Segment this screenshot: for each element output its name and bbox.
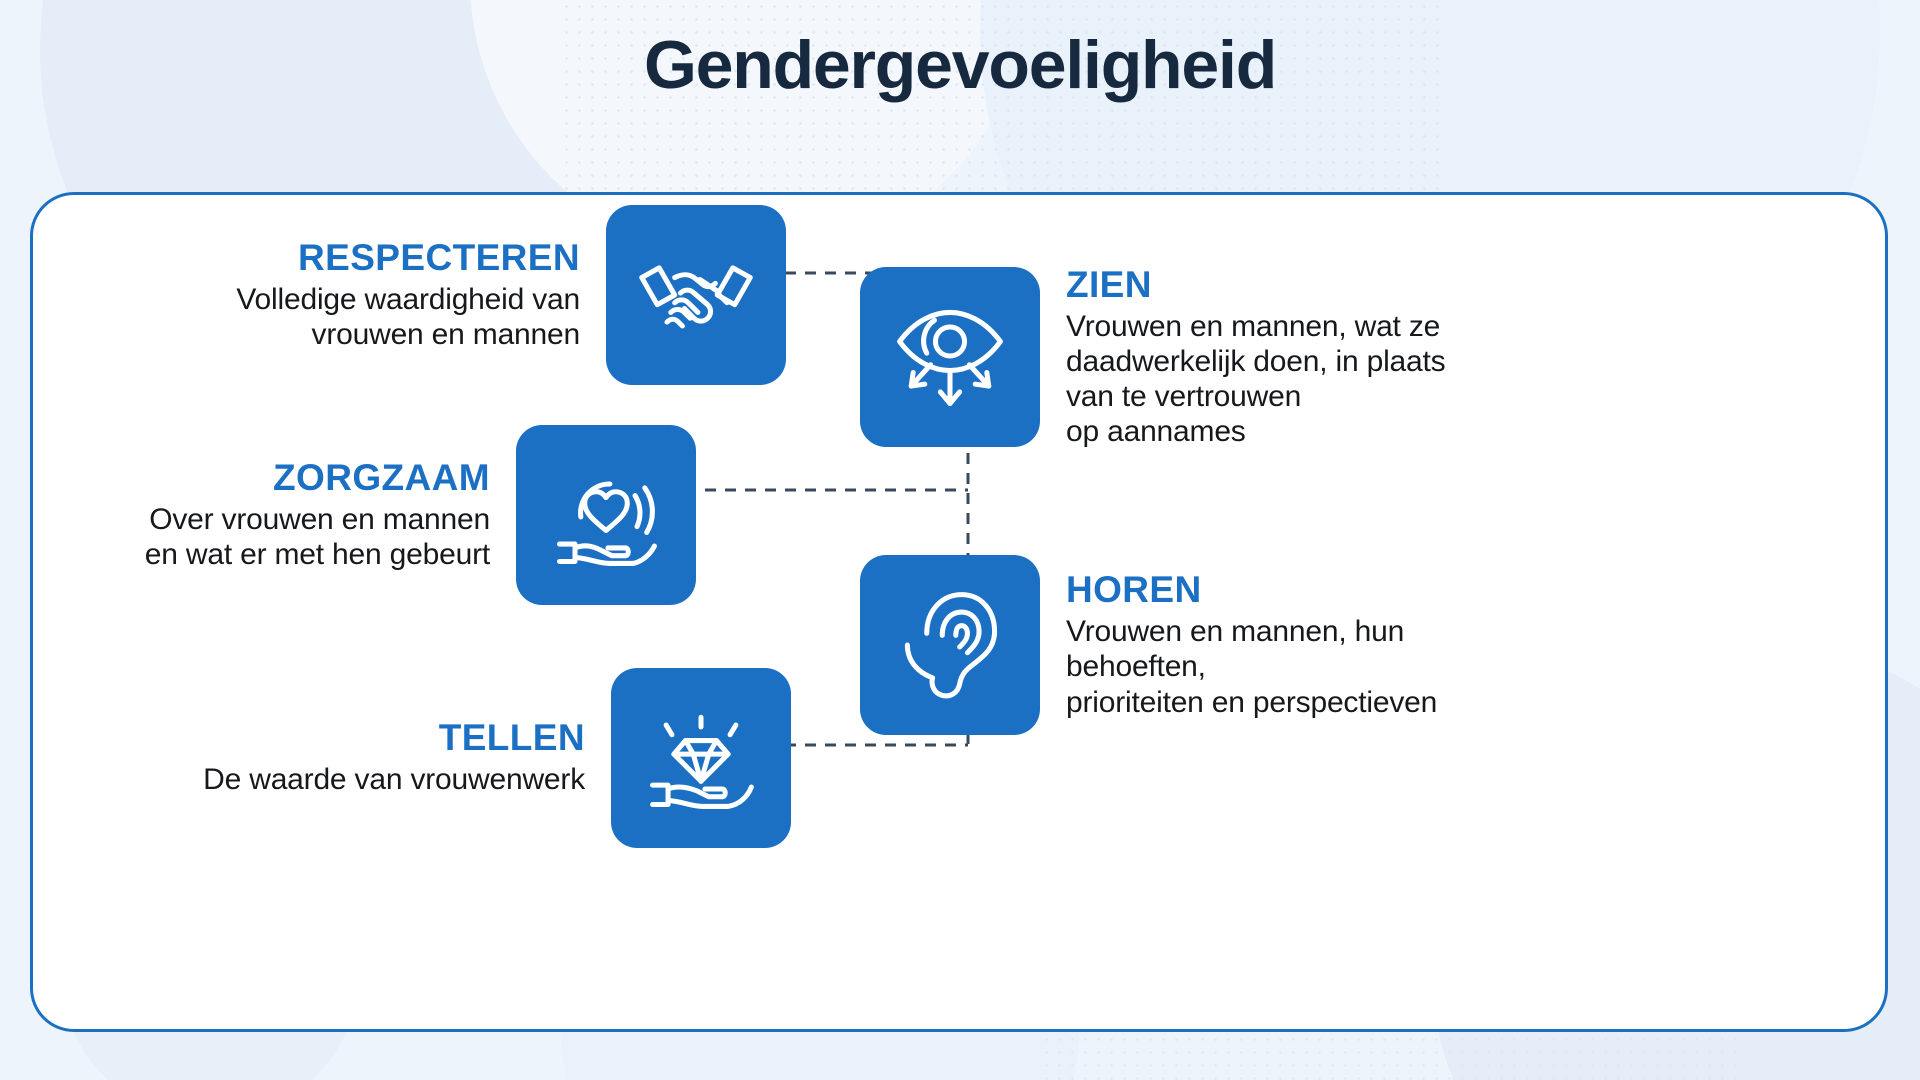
- item-desc-zien: Vrouwen en mannen, wat ze daadwerkelijk …: [1066, 309, 1445, 449]
- item-text-zien: ZIEN Vrouwen en mannen, wat ze daadwerke…: [1040, 265, 1445, 449]
- handshake-icon: [634, 233, 758, 357]
- item-horen[interactable]: HOREN Vrouwen en mannen, hun behoeften, …: [860, 555, 1437, 735]
- item-title-zien: ZIEN: [1066, 265, 1445, 305]
- item-desc-respecteren: Volledige waardigheid van vrouwen en man…: [150, 282, 580, 352]
- item-zien[interactable]: ZIEN Vrouwen en mannen, wat ze daadwerke…: [860, 265, 1445, 449]
- hand-diamond-icon: [639, 696, 763, 820]
- item-desc-horen: Vrouwen en mannen, hun behoeften, priori…: [1066, 614, 1437, 719]
- eye-icon: [888, 295, 1012, 419]
- hand-heart-icon: [544, 453, 668, 577]
- ear-icon: [888, 583, 1012, 707]
- item-title-respecteren: RESPECTEREN: [150, 238, 580, 278]
- item-desc-zorgzaam: Over vrouwen en mannen en wat er met hen…: [80, 502, 490, 572]
- item-text-respecteren: RESPECTEREN Volledige waardigheid van vr…: [150, 238, 606, 352]
- item-text-zorgzaam: ZORGZAAM Over vrouwen en mannen en wat e…: [80, 458, 516, 572]
- item-desc-tellen: De waarde van vrouwenwerk: [140, 762, 585, 797]
- item-title-horen: HOREN: [1066, 570, 1437, 610]
- icon-tile-zien[interactable]: [860, 267, 1040, 447]
- item-zorgzaam[interactable]: ZORGZAAM Over vrouwen en mannen en wat e…: [80, 425, 696, 605]
- page-title: Gendergevoeligheid: [0, 26, 1920, 104]
- icon-tile-respecteren[interactable]: [606, 205, 786, 385]
- item-tellen[interactable]: TELLEN De waarde van vrouwenwerk: [140, 668, 791, 848]
- item-text-horen: HOREN Vrouwen en mannen, hun behoeften, …: [1040, 570, 1437, 719]
- item-title-tellen: TELLEN: [140, 718, 585, 758]
- item-title-zorgzaam: ZORGZAAM: [80, 458, 490, 498]
- item-text-tellen: TELLEN De waarde van vrouwenwerk: [140, 718, 611, 797]
- item-respecteren[interactable]: RESPECTEREN Volledige waardigheid van vr…: [150, 205, 786, 385]
- icon-tile-horen[interactable]: [860, 555, 1040, 735]
- icon-tile-tellen[interactable]: [611, 668, 791, 848]
- icon-tile-zorgzaam[interactable]: [516, 425, 696, 605]
